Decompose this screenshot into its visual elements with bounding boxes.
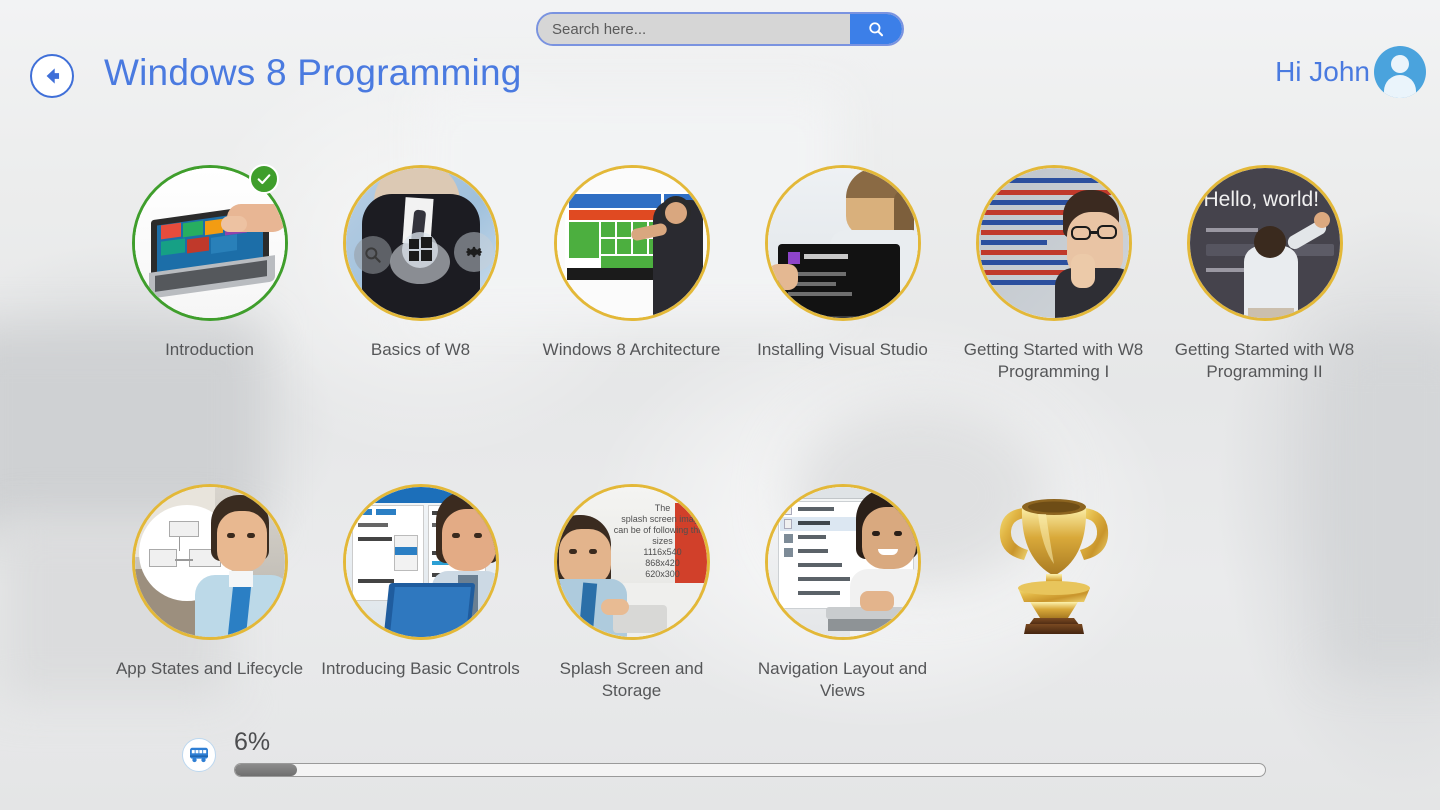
lesson-thumb-ring [765,484,921,640]
lesson-thumb-ring [765,165,921,321]
splash-size-1: 1116x540 [613,547,707,558]
lesson-thumbnail-architecture-diagram [557,168,707,318]
splash-size-3: 620x300 [613,569,707,580]
bus-glyph-icon [188,746,210,764]
trophy-icon [976,484,1132,640]
lesson-thumb-ring [343,484,499,640]
course-progress: 6% [182,727,1266,777]
lesson-label: Introduction [110,339,310,361]
progress-percent-label: 6% [234,727,1266,757]
lesson-thumbnail-woman-laptop-vs [768,168,918,318]
splash-line-2: splash screen image [613,514,707,525]
bus-icon [182,738,216,772]
lesson-label: Windows 8 Architecture [532,339,732,361]
lesson-tile-windows-8-architecture[interactable]: Windows 8 Architecture [526,165,737,383]
lesson-thumb-ring: Hello, world! [1187,165,1343,321]
check-icon [256,171,272,187]
lesson-thumb-ring [132,165,288,321]
splash-line-4: sizes [613,536,707,547]
course-trophy-tile[interactable] [948,484,1159,702]
user-area[interactable]: Hi John [1275,46,1426,98]
search-input[interactable] [538,14,850,44]
lesson-row-2: App States and Lifecycle [0,484,1440,702]
lesson-tile-installing-visual-studio[interactable]: Installing Visual Studio [737,165,948,383]
lesson-tile-app-states-lifecycle[interactable]: App States and Lifecycle [104,484,315,702]
lesson-label: App States and Lifecycle [110,658,310,680]
hello-world-text: Hello, world! [1204,188,1320,212]
splash-size-2: 868x420 [613,558,707,569]
lesson-thumb-ring [554,165,710,321]
lesson-thumbnail-xaml-code-woman [979,168,1129,318]
search-bar[interactable] [536,12,904,46]
page-title: Windows 8 Programming [104,52,522,94]
lesson-thumb-ring [976,165,1132,321]
completed-check-badge [249,164,279,194]
trophy-ring [976,484,1132,640]
lesson-tile-navigation-layout-views[interactable]: Navigation Layout and Views [737,484,948,702]
lesson-row-1: Introduction [0,165,1440,383]
lesson-label: Installing Visual Studio [743,339,943,361]
lesson-tile-basics-of-w8[interactable]: Basics of W8 [315,165,526,383]
back-button[interactable] [30,54,74,98]
lesson-thumb-ring [343,165,499,321]
back-arrow-icon [39,63,65,89]
lesson-label: Navigation Layout and Views [743,658,943,702]
lesson-label: Introducing Basic Controls [321,658,521,680]
lesson-label: Splash Screen and Storage [532,658,732,702]
lesson-thumbnail-man-folder-controls [346,487,496,637]
lesson-thumbnail-man-desk-splash-sizes: The splash screen image can be of follow… [557,487,707,637]
user-greeting: Hi John [1275,56,1370,88]
progress-bar-fill [235,764,297,776]
lesson-label: Getting Started with W8 Programming II [1165,339,1365,383]
lesson-thumbnail-suit-windows-logo [346,168,496,318]
trophy-thumbnail [976,484,1132,640]
lesson-thumb-ring [132,484,288,640]
progress-bar[interactable] [234,763,1266,777]
splash-line-1: The [613,503,707,514]
lesson-thumbnail-man-state-diagram [135,487,285,637]
lesson-label: Getting Started with W8 Programming I [954,339,1154,383]
search-button[interactable] [850,14,902,44]
lesson-tile-getting-started-i[interactable]: Getting Started with W8 Programming I [948,165,1159,383]
lesson-thumb-ring: The splash screen image can be of follow… [554,484,710,640]
splash-line-3: can be of following three [613,525,707,536]
lesson-tile-splash-screen-storage[interactable]: The splash screen image can be of follow… [526,484,737,702]
lesson-label: Basics of W8 [321,339,521,361]
lesson-tile-getting-started-ii[interactable]: Hello, world! Getting Started with W8 Pr… [1159,165,1370,383]
avatar[interactable] [1374,46,1426,98]
lesson-tile-introducing-basic-controls[interactable]: Introducing Basic Controls [315,484,526,702]
lesson-tile-introduction[interactable]: Introduction [104,165,315,383]
magnifier-icon [363,245,383,265]
progress-details: 6% [234,727,1266,777]
lesson-thumbnail-hello-world-board: Hello, world! [1190,168,1340,318]
gear-icon [463,241,485,263]
lesson-thumbnail-man-laptop-page-menu [768,487,918,637]
search-icon [867,20,885,38]
